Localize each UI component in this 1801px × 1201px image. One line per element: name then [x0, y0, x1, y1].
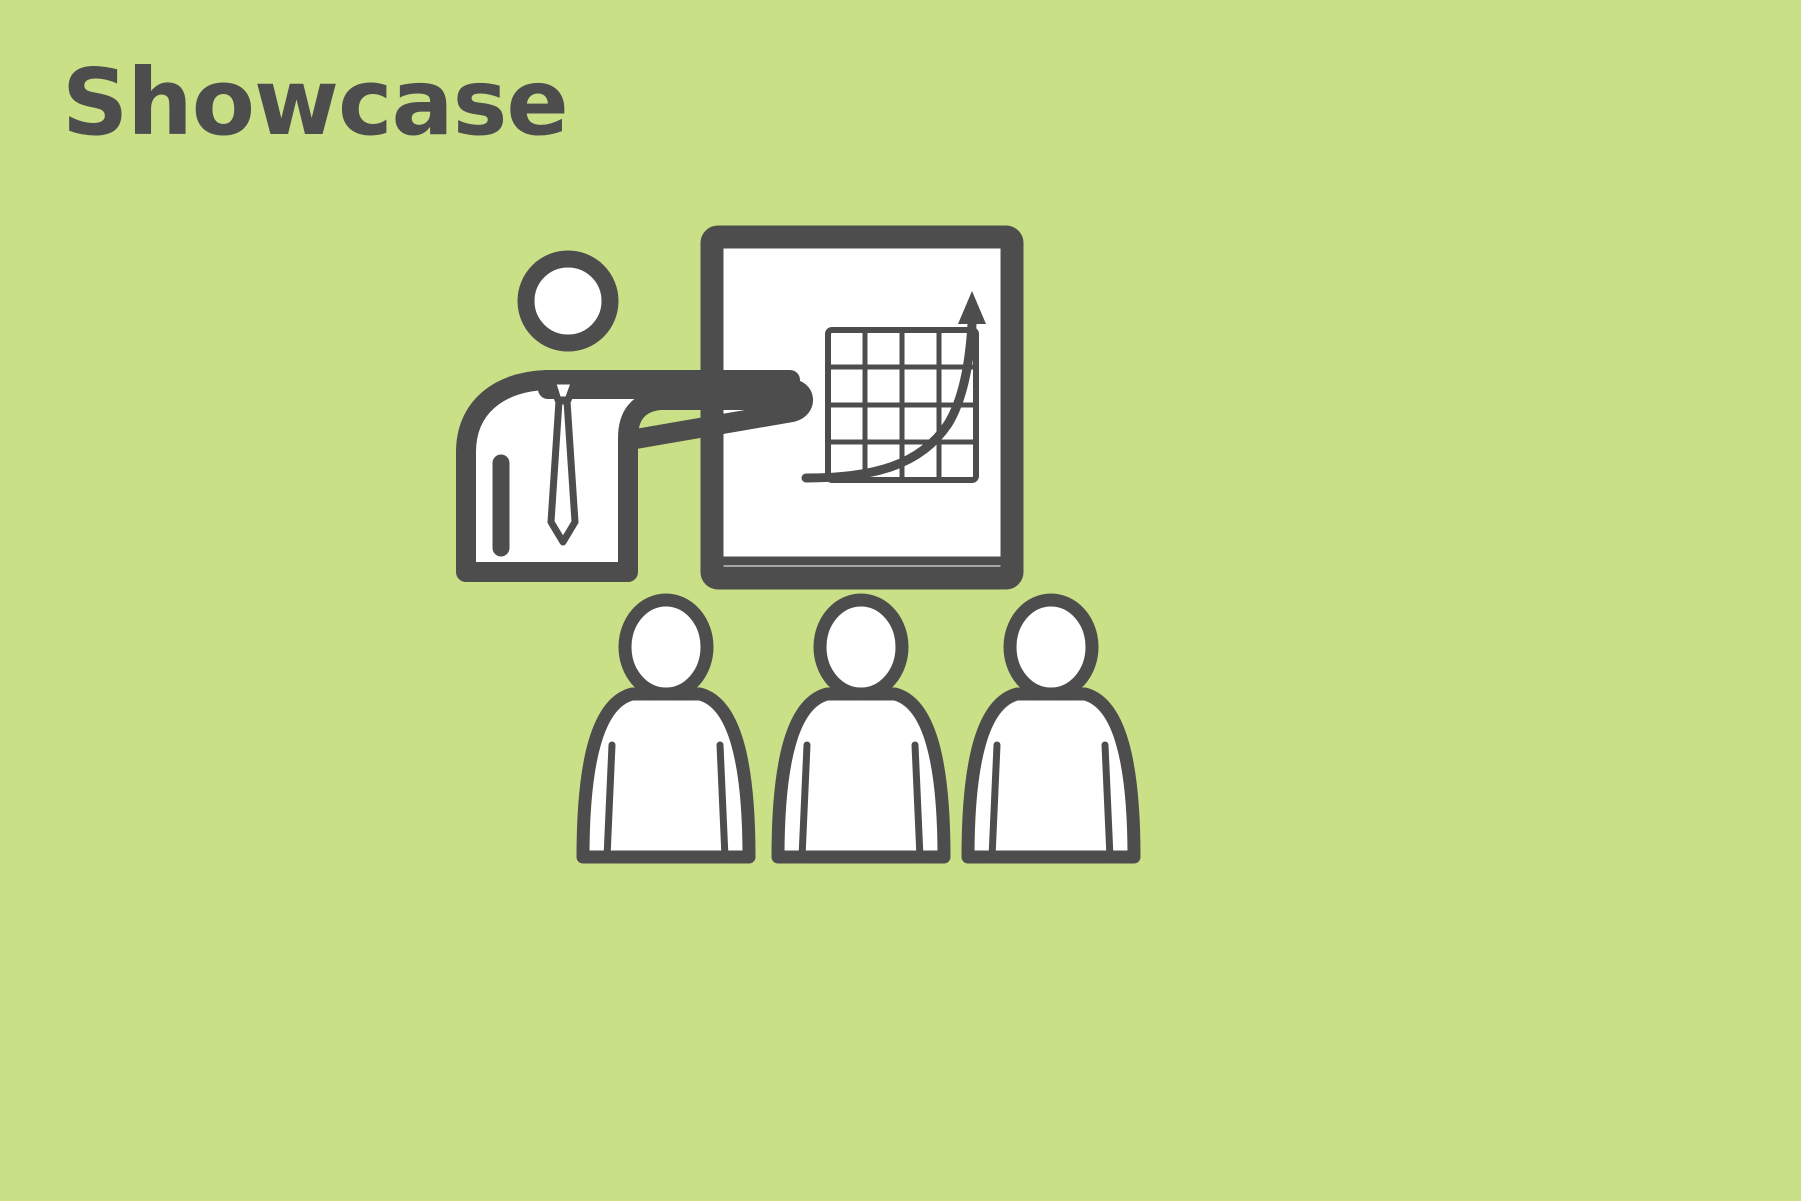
- audience-head: [625, 600, 707, 694]
- audience-member-3[interactable]: [968, 600, 1134, 857]
- audience-head: [820, 600, 902, 694]
- audience-head: [1010, 600, 1092, 694]
- audience-arm-left: [802, 745, 807, 857]
- audience-arm-right: [915, 745, 920, 857]
- audience-member-2[interactable]: [778, 600, 944, 857]
- audience-member-1[interactable]: [583, 600, 749, 857]
- presenter-necktie: [551, 401, 575, 542]
- illustration-canvas: Showcase: [0, 0, 1801, 1201]
- audience-arm-right: [1105, 745, 1110, 857]
- audience-arm-left: [992, 745, 997, 857]
- presenter-tie-knot: [552, 381, 575, 400]
- audience-arm-left: [607, 745, 612, 857]
- presenter-head: [526, 259, 610, 343]
- audience-group: [583, 600, 1134, 857]
- audience-arm-right: [720, 745, 725, 857]
- business-presentation-illustration: [0, 0, 1801, 1201]
